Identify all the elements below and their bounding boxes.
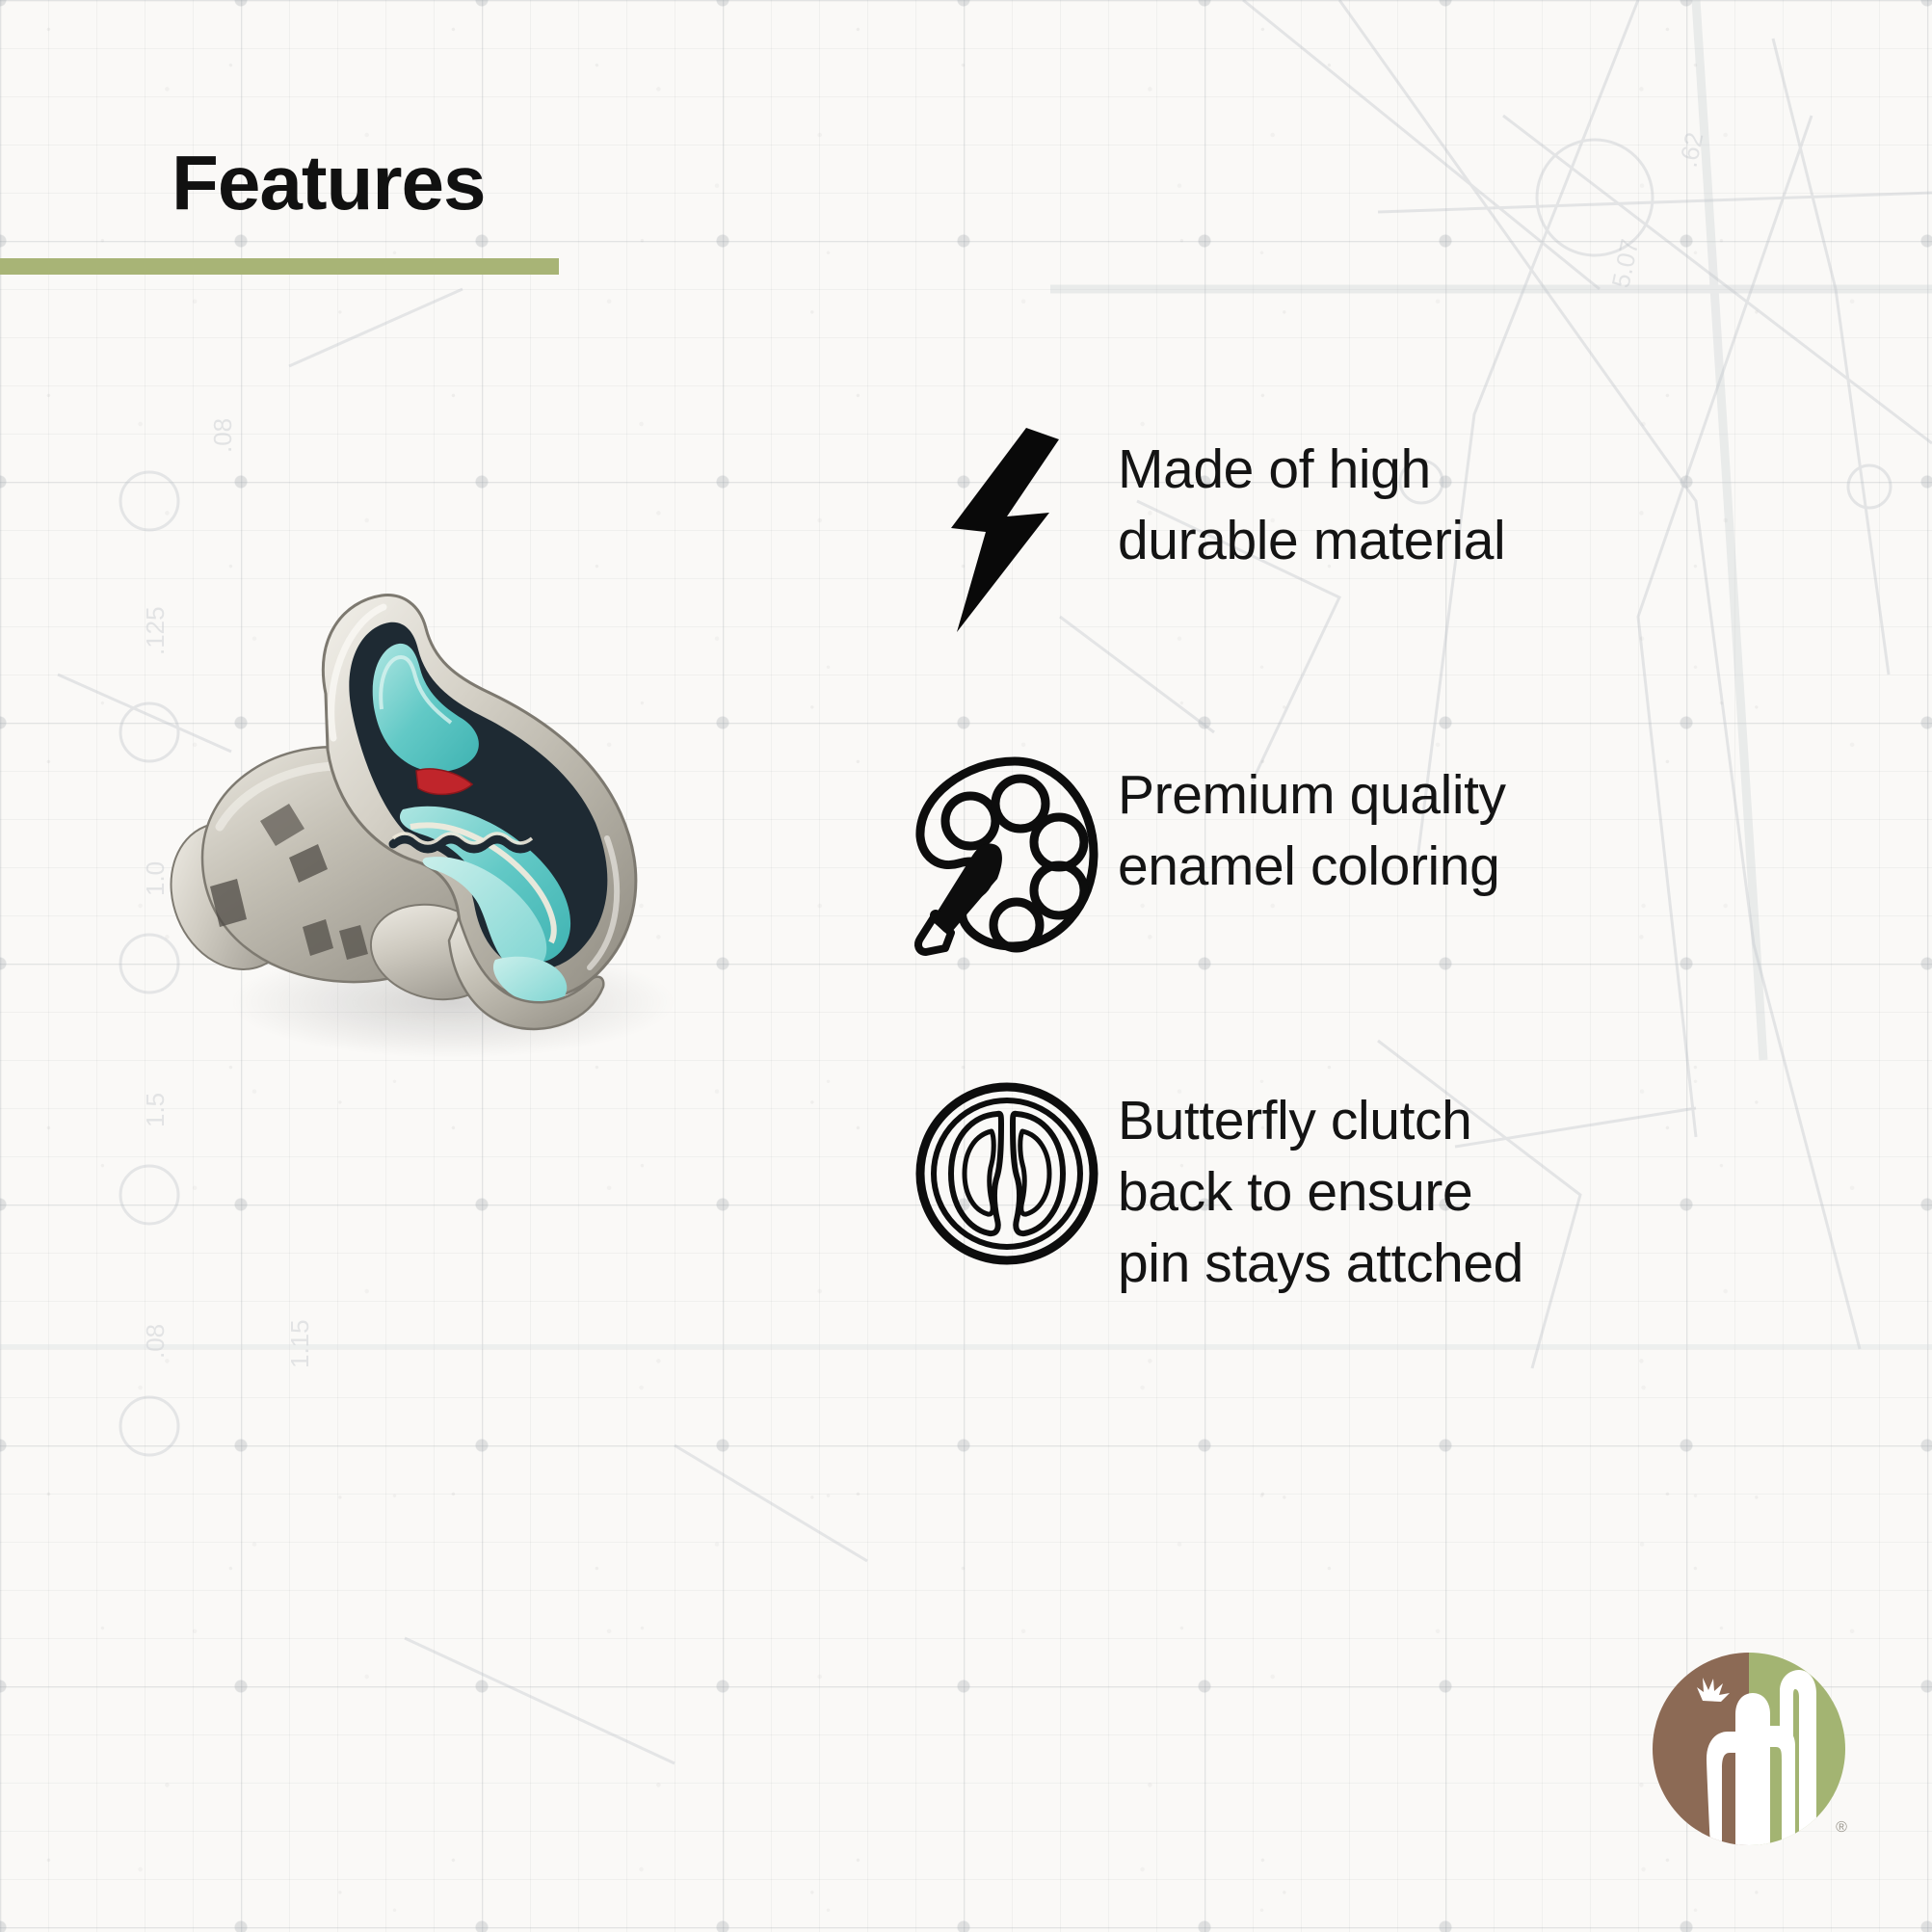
features-list: Made of high durable material Premiu: [896, 424, 1860, 1299]
title-underline-rule: [0, 258, 559, 275]
paint-palette-icon: [896, 750, 1118, 958]
page-header: Features: [0, 145, 559, 275]
butterfly-clutch-glyph: [913, 1079, 1101, 1268]
trademark-mark: ®: [1836, 1819, 1847, 1836]
feature-item-durable-material: Made of high durable material: [896, 424, 1860, 632]
feature-line: enamel coloring: [1118, 831, 1506, 902]
butterfly-clutch-icon: [896, 1075, 1118, 1268]
product-photo: [145, 569, 742, 1070]
enamel-pin-illustration: [145, 569, 742, 1070]
feature-line: Made of high: [1118, 434, 1505, 505]
feature-line: pin stays attched: [1118, 1228, 1523, 1299]
feature-item-butterfly-clutch: Butterfly clutch back to ensure pin stay…: [896, 1075, 1860, 1299]
feature-line: Premium quality: [1118, 759, 1506, 831]
page-title: Features: [0, 145, 559, 222]
feature-line: durable material: [1118, 505, 1505, 576]
saguaro-cactus-logo-glyph: ®: [1653, 1653, 1857, 1857]
feature-item-enamel-coloring: Premium quality enamel coloring: [896, 750, 1860, 958]
feature-text-butterfly-clutch: Butterfly clutch back to ensure pin stay…: [1118, 1075, 1523, 1299]
paint-palette-glyph: [913, 754, 1101, 958]
feature-line: Butterfly clutch: [1118, 1085, 1523, 1156]
feature-text-durable-material: Made of high durable material: [1118, 424, 1505, 576]
lightning-bolt-icon: [896, 424, 1118, 632]
feature-text-enamel-coloring: Premium quality enamel coloring: [1118, 750, 1506, 902]
brand-logo: ®: [1653, 1653, 1857, 1857]
lightning-bolt-glyph: [951, 428, 1063, 632]
feature-line: back to ensure: [1118, 1156, 1523, 1228]
